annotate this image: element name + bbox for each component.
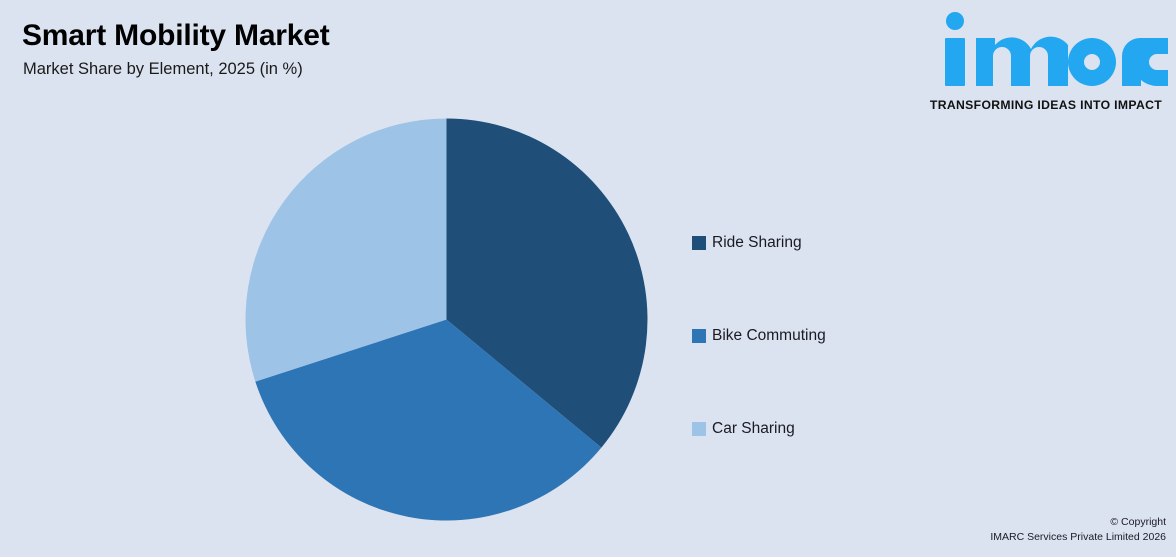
copyright-line-2: IMARC Services Private Limited 2026 (990, 530, 1166, 545)
imarc-wordmark-icon (924, 8, 1168, 88)
legend-swatch-icon (692, 329, 706, 343)
page-subtitle: Market Share by Element, 2025 (in %) (23, 60, 303, 79)
chart-legend: Ride Sharing Bike Commuting Car Sharing (692, 196, 1022, 475)
pie-chart-svg (245, 118, 648, 521)
copyright-notice: © Copyright IMARC Services Private Limit… (990, 515, 1166, 545)
page-title: Smart Mobility Market (22, 19, 330, 53)
legend-swatch-icon (692, 236, 706, 250)
legend-label: Ride Sharing (712, 234, 802, 252)
legend-swatch-icon (692, 422, 706, 436)
legend-label: Car Sharing (712, 420, 795, 438)
logo-tagline: TRANSFORMING IDEAS INTO IMPACT (924, 98, 1168, 112)
copyright-line-1: © Copyright (990, 515, 1166, 530)
legend-item-bike-commuting[interactable]: Bike Commuting (692, 289, 1022, 382)
pie-chart (245, 118, 648, 521)
legend-item-car-sharing[interactable]: Car Sharing (692, 382, 1022, 475)
imarc-logo: TRANSFORMING IDEAS INTO IMPACT (924, 8, 1168, 108)
legend-item-ride-sharing[interactable]: Ride Sharing (692, 196, 1022, 289)
chart-canvas: Smart Mobility Market Market Share by El… (0, 0, 1176, 557)
legend-label: Bike Commuting (712, 327, 826, 345)
